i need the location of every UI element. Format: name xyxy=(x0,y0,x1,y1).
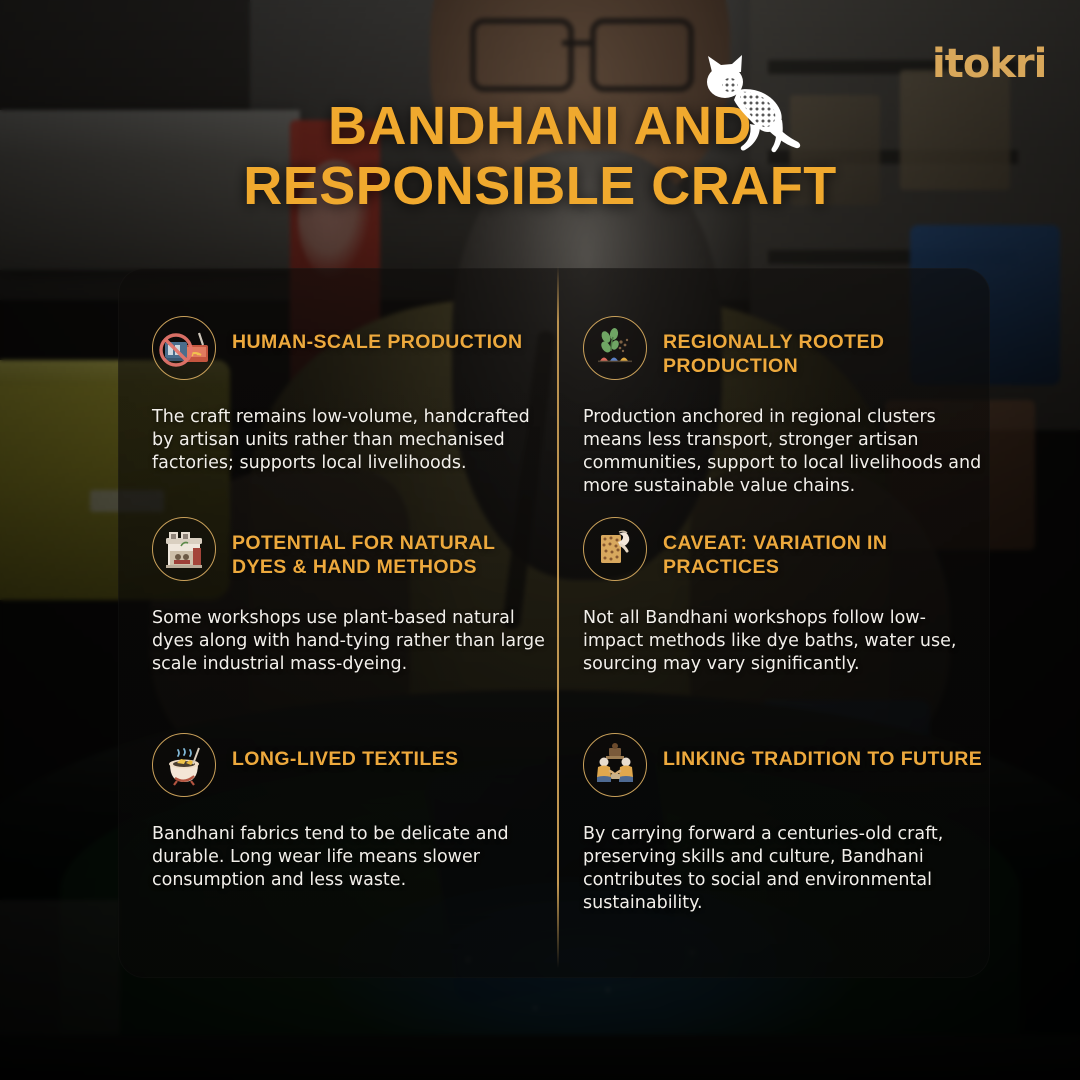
card-title: POTENTIAL FOR NATURAL DYES & HAND METHOD… xyxy=(232,517,552,579)
card-potential-for-natural-dyes[interactable]: POTENTIAL FOR NATURAL DYES & HAND METHOD… xyxy=(152,517,552,676)
workshop-building-icon xyxy=(152,517,216,581)
hand-holding-fabric-icon xyxy=(583,517,647,581)
card-body: By carrying forward a centuries-old craf… xyxy=(583,823,983,915)
steaming-dye-pot-icon xyxy=(152,733,216,797)
card-linking-tradition-to-future[interactable]: LINKING TRADITION TO FUTURE By carrying … xyxy=(583,733,983,915)
card-body: The craft remains low-volume, handcrafte… xyxy=(152,406,552,475)
brand-logo-text: itokri xyxy=(932,38,1042,90)
card-header: LINKING TRADITION TO FUTURE xyxy=(583,733,983,797)
seedling-dye-powders-icon xyxy=(583,316,647,380)
two-artisans-icon xyxy=(583,733,647,797)
card-header: LONG-LIVED TEXTILES xyxy=(152,733,552,797)
card-title: LINKING TRADITION TO FUTURE xyxy=(663,733,982,771)
card-body: Production anchored in regional clusters… xyxy=(583,406,983,498)
card-title: HUMAN-SCALE PRODUCTION xyxy=(232,316,522,354)
card-body: Bandhani fabrics tend to be delicate and… xyxy=(152,823,552,892)
card-header: POTENTIAL FOR NATURAL DYES & HAND METHOD… xyxy=(152,517,552,581)
card-regionally-rooted-production[interactable]: REGIONALLY ROOTED PRODUCTION Production … xyxy=(583,316,983,498)
card-title: REGIONALLY ROOTED PRODUCTION xyxy=(663,316,983,378)
page-title-line2: RESPONSIBLE CRAFT xyxy=(0,156,1080,216)
card-long-lived-textiles[interactable]: LONG-LIVED TEXTILES Bandhani fabrics ten… xyxy=(152,733,552,892)
card-body: Not all Bandhani workshops follow low-im… xyxy=(583,607,983,676)
cat-illustration-icon xyxy=(688,52,804,156)
card-header: CAVEAT: VARIATION IN PRACTICES xyxy=(583,517,983,581)
no-factory-icon xyxy=(152,316,216,380)
card-header: HUMAN-SCALE PRODUCTION xyxy=(152,316,552,380)
column-divider xyxy=(557,266,559,968)
page-title: BANDHANI AND RESPONSIBLE CRAFT xyxy=(0,96,1080,216)
card-header: REGIONALLY ROOTED PRODUCTION xyxy=(583,316,983,380)
infographic-canvas: itokri BANDHANI AND RESPONSIBLE CRAFT xyxy=(0,0,1080,1080)
card-body: Some workshops use plant-based natural d… xyxy=(152,607,552,676)
card-title: LONG-LIVED TEXTILES xyxy=(232,733,458,771)
card-title: CAVEAT: VARIATION IN PRACTICES xyxy=(663,517,983,579)
brand-logo[interactable]: itokri xyxy=(932,38,1042,90)
card-human-scale-production[interactable]: HUMAN-SCALE PRODUCTION The craft remains… xyxy=(152,316,552,475)
card-caveat-variation-in-practices[interactable]: CAVEAT: VARIATION IN PRACTICES Not all B… xyxy=(583,517,983,676)
